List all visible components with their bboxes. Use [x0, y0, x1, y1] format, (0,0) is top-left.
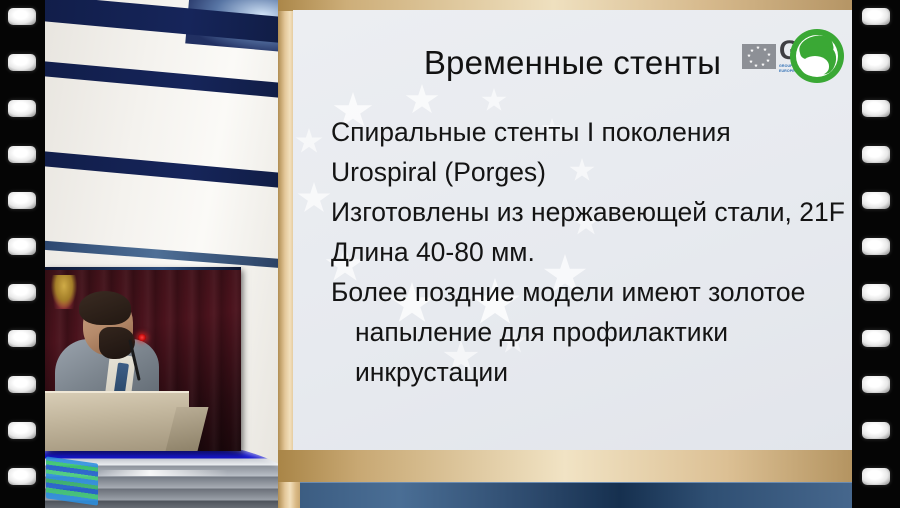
speaker-camera-feed[interactable] — [45, 267, 241, 451]
film-sprocket-hole — [8, 54, 36, 71]
slide-body-line: Более поздние модели имеют золотое — [331, 272, 832, 312]
eu-flag-emblem-icon — [742, 44, 776, 69]
film-sprocket-hole — [8, 192, 36, 209]
desk-light-panel — [46, 456, 98, 505]
film-sprocket-hole — [8, 238, 36, 255]
film-sprocket-hole — [8, 100, 36, 117]
film-sprocket-hole — [8, 8, 36, 25]
film-sprocket-hole — [862, 238, 890, 255]
slide-body-line: Urospiral (Porges) — [331, 152, 832, 192]
desk-highlight — [98, 470, 228, 476]
film-sprocket-hole — [8, 376, 36, 393]
film-sprocket-hole — [8, 468, 36, 485]
russian-coat-of-arms-emblem — [51, 275, 77, 309]
film-sprocket-hole — [862, 146, 890, 163]
presentation-slide[interactable]: G GROUP EUROPE Временные стенты Спиральн… — [293, 10, 852, 450]
film-strip-left — [0, 0, 45, 508]
film-strip-right — [852, 0, 900, 508]
film-sprocket-hole — [8, 284, 36, 301]
microphone-led-icon — [138, 334, 146, 341]
video-frame: G GROUP EUROPE Временные стенты Спиральн… — [0, 0, 900, 508]
slide-body: Спиральные стенты I поколения Urospiral … — [331, 112, 832, 392]
slide-body-line: Спиральные стенты I поколения — [331, 112, 832, 152]
film-sprocket-hole — [862, 422, 890, 439]
film-sprocket-hole — [8, 330, 36, 347]
film-sprocket-hole — [862, 468, 890, 485]
green-swirl-logo-icon — [790, 29, 844, 83]
star-watermark — [481, 88, 507, 113]
film-sprocket-hole — [8, 422, 36, 439]
slide-body-line: напыление для профилактики — [331, 312, 832, 352]
slide-body-line: Длина 40-80 мм. — [331, 232, 832, 272]
film-sprocket-hole — [8, 146, 36, 163]
film-sprocket-hole — [862, 330, 890, 347]
inset-top-edge — [45, 267, 241, 270]
slide-frame: G GROUP EUROPE Временные стенты Спиральн… — [278, 0, 852, 508]
backdrop-stripe — [38, 148, 293, 193]
backdrop-stripe — [38, 58, 293, 103]
film-sprocket-hole — [862, 284, 890, 301]
slide-body-line: инкрустации — [331, 352, 832, 392]
slide-frame-bottom-band — [278, 450, 852, 482]
logo-sub-line2: EUROPE — [779, 69, 795, 73]
star-watermark — [295, 128, 323, 155]
film-sprocket-hole — [862, 100, 890, 117]
film-sprocket-hole — [862, 54, 890, 71]
speaker-hair — [79, 291, 131, 325]
slide-logo-cluster: G GROUP EUROPE — [742, 28, 844, 84]
star-watermark — [297, 182, 331, 215]
slide-frame-blue-bar — [300, 482, 852, 508]
film-sprocket-hole — [862, 376, 890, 393]
film-sprocket-hole — [862, 8, 890, 25]
film-sprocket-hole — [862, 192, 890, 209]
slide-body-line: Изготовлены из нержавеющей стали, 21F — [331, 192, 832, 232]
